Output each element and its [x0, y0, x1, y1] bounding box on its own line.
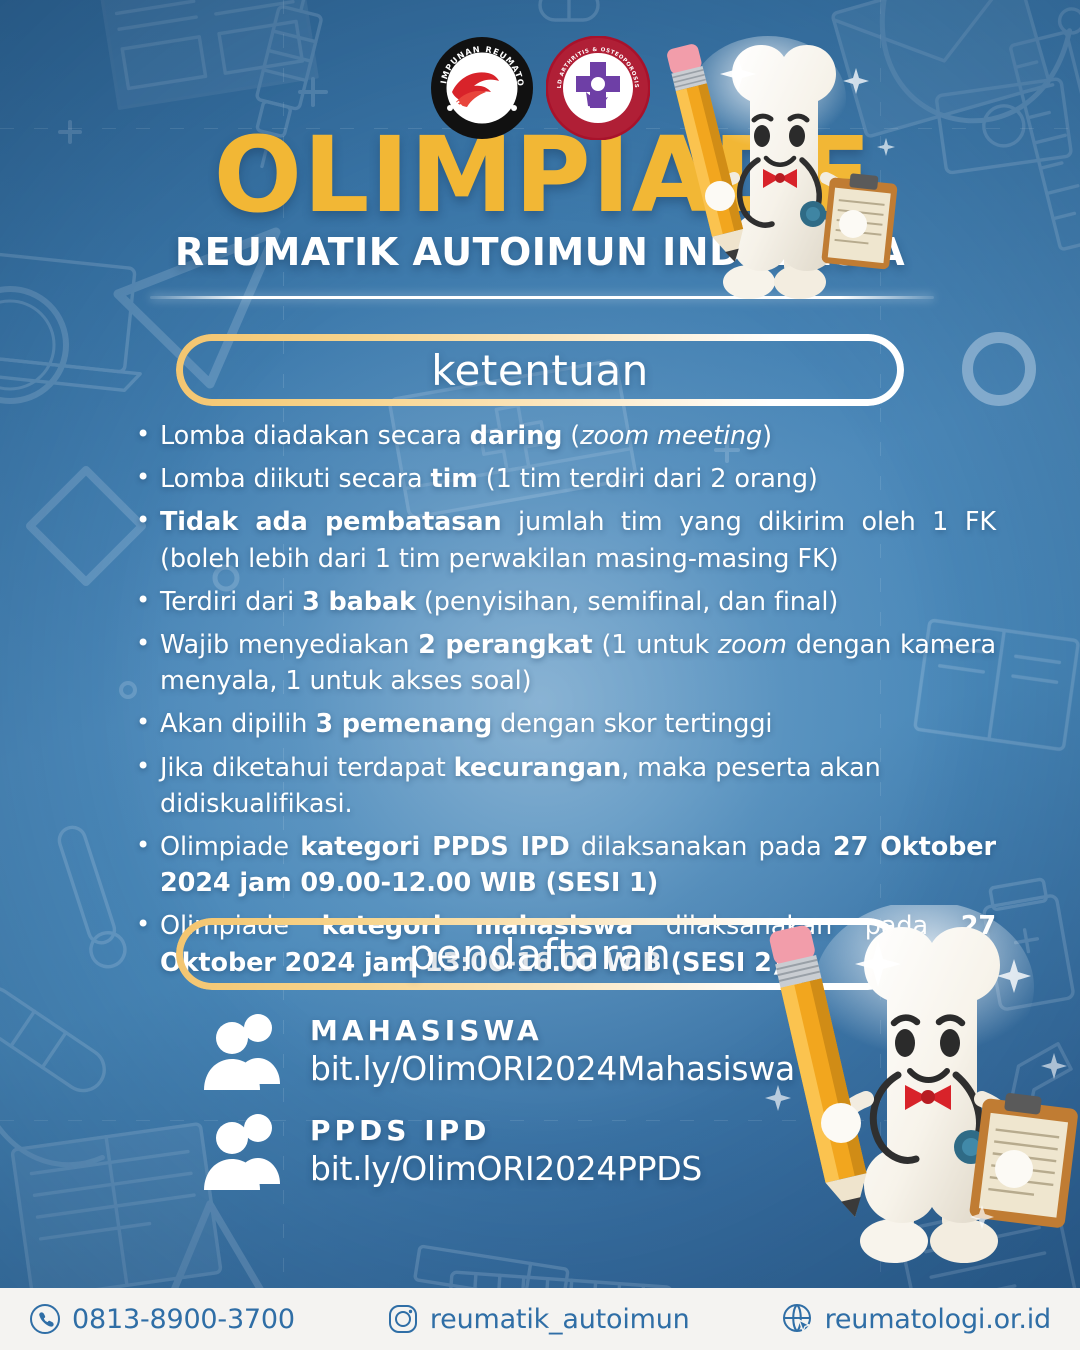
registration-link[interactable]: bit.ly/OlimORI2024Mahasiswa: [310, 1049, 795, 1088]
footer-contact-item[interactable]: reumatologi.or.id: [782, 1303, 1051, 1335]
footer-contact-bar: 0813-8900-3700 reumatik_autoimun reumato…: [0, 1288, 1080, 1350]
rule-item: Wajib menyediakan 2 perangkat (1 untuk z…: [128, 627, 996, 699]
footer-contact-item[interactable]: reumatik_autoimun: [387, 1303, 690, 1335]
ketentuan-label: ketentuan: [431, 346, 649, 395]
rule-item: Lomba diikuti secara tim (1 tim terdiri …: [128, 461, 996, 497]
phone-icon: [29, 1303, 61, 1335]
registration-category: PPDS IPD: [310, 1114, 702, 1147]
section-header-ketentuan: ketentuan: [176, 334, 904, 406]
footer-contact-text: 0813-8900-3700: [72, 1304, 295, 1335]
rule-item: Olimpiade kategori PPDS IPD dilaksanakan…: [128, 829, 996, 901]
footer-contact-item[interactable]: 0813-8900-3700: [29, 1303, 295, 1335]
rule-item: Terdiri dari 3 babak (penyisihan, semifi…: [128, 584, 996, 620]
footer-contact-text: reumatik_autoimun: [430, 1304, 690, 1335]
section-header-pendaftaran: pendaftaran: [176, 918, 904, 990]
rule-item: Akan dipilih 3 pemenang dengan skor tert…: [128, 706, 996, 742]
header-divider: [150, 296, 934, 299]
rule-item: Jika diketahui terdapat kecurangan, maka…: [128, 750, 996, 822]
poster-canvas: PERHIMPUNAN REUMATOLOGI INDONESIA: [0, 0, 1080, 1350]
people-group-icon: [196, 1012, 288, 1090]
indonesian-rheumatology-association-logo: WORLD ARTHRITIS & OSTEOPOROSIS DAY INDON…: [546, 36, 650, 140]
registration-row[interactable]: PPDS IPDbit.ly/OlimORI2024PPDS: [196, 1112, 795, 1190]
perhimpunan-reumatologi-indonesia-logo: PERHIMPUNAN REUMATOLOGI INDONESIA: [430, 36, 534, 140]
instagram-icon: [387, 1303, 419, 1335]
decorative-ring: [962, 332, 1036, 406]
logo-row: PERHIMPUNAN REUMATOLOGI INDONESIA: [0, 36, 1080, 140]
registration-list: MAHASISWAbit.ly/OlimORI2024Mahasiswa PPD…: [196, 1012, 795, 1212]
registration-link[interactable]: bit.ly/OlimORI2024PPDS: [310, 1149, 702, 1188]
people-group-icon: [196, 1112, 288, 1190]
pendaftaran-label: pendaftaran: [409, 930, 672, 979]
globe-cursor-icon: [782, 1303, 814, 1335]
footer-contact-text: reumatologi.or.id: [825, 1304, 1051, 1335]
rules-list: Lomba diadakan secara daring (zoom meeti…: [128, 418, 996, 988]
rule-item: Lomba diadakan secara daring (zoom meeti…: [128, 418, 996, 454]
registration-category: MAHASISWA: [310, 1014, 795, 1047]
registration-row[interactable]: MAHASISWAbit.ly/OlimORI2024Mahasiswa: [196, 1012, 795, 1090]
rule-item: Tidak ada pembatasan jumlah tim yang dik…: [128, 504, 996, 576]
